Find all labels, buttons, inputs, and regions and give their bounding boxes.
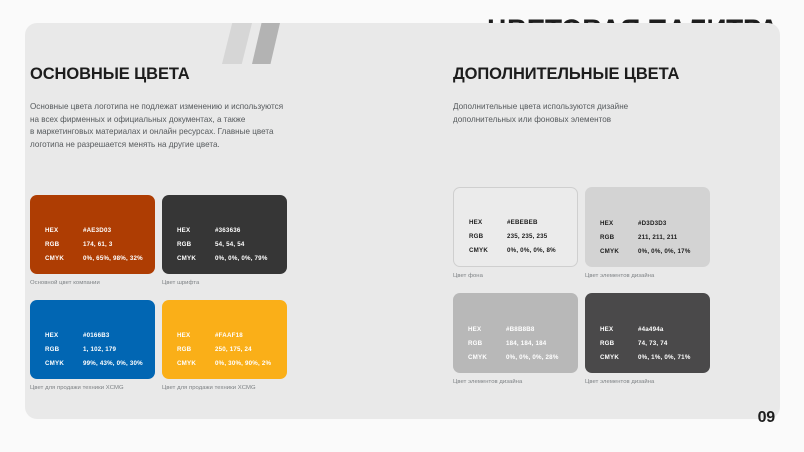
section-primary-colors: ОСНОВНЫЕ ЦВЕТА Основные цвета логотипа н… — [30, 0, 320, 151]
color-value-key: HEX — [45, 332, 83, 339]
color-value-hex: #363636 — [215, 227, 241, 234]
color-swatch-box[interactable]: HEX#D3D3D3RGB211, 211, 211CMYK0%, 0%, 0%… — [585, 187, 710, 267]
description-line: на всех фирменных и официальных документ… — [30, 114, 320, 127]
color-swatch-box[interactable]: HEX#FAAF18RGB250, 175, 24CMYK0%, 30%, 90… — [162, 300, 287, 379]
color-swatch-cell: HEX#AE3D03RGB174, 61, 3CMYK0%, 65%, 98%,… — [30, 195, 155, 286]
color-value-row-cmyk: CMYK99%, 43%, 0%, 30% — [45, 360, 145, 367]
color-value-key: CMYK — [177, 360, 215, 367]
color-value-row-hex: HEX#0166B3 — [45, 332, 145, 339]
color-value-hex: #0166B3 — [83, 332, 110, 339]
color-swatch-box[interactable]: HEX#B8B8B8RGB184, 184, 184CMYK0%, 0%, 0%… — [453, 293, 578, 373]
color-value-rgb: 211, 211, 211 — [638, 234, 677, 241]
color-value-cmyk: 99%, 43%, 0%, 30% — [83, 360, 143, 367]
color-value-key: CMYK — [600, 248, 638, 255]
color-value-row-cmyk: CMYK0%, 30%, 90%, 2% — [177, 360, 277, 367]
color-value-rgb: 1, 102, 179 — [83, 346, 116, 353]
swatch-grid-secondary: HEX#EBEBEBRGB235, 235, 235CMYK0%, 0%, 0%… — [453, 187, 710, 385]
color-value-row-hex: HEX#363636 — [177, 227, 277, 234]
color-value-key: CMYK — [45, 360, 83, 367]
color-value-hex: #D3D3D3 — [638, 220, 667, 227]
color-value-hex: #EBEBEB — [507, 219, 538, 226]
description-line: дополнительных или фоновых элементов — [453, 114, 743, 127]
color-swatch-caption: Цвет элементов дизайна — [585, 273, 710, 279]
color-value-key: CMYK — [468, 354, 506, 361]
color-value-row-hex: HEX#B8B8B8 — [468, 326, 568, 333]
color-swatch-cell: HEX#B8B8B8RGB184, 184, 184CMYK0%, 0%, 0%… — [453, 293, 578, 385]
color-values: HEX#D3D3D3RGB211, 211, 211CMYK0%, 0%, 0%… — [600, 220, 700, 255]
color-value-key: HEX — [600, 220, 638, 227]
color-value-key: CMYK — [45, 255, 83, 262]
color-value-row-cmyk: CMYK0%, 0%, 0%, 79% — [177, 255, 277, 262]
section-secondary-colors: ДОПОЛНИТЕЛЬНЫЕ ЦВЕТА Дополнительные цвет… — [453, 0, 743, 126]
color-value-hex: #B8B8B8 — [506, 326, 535, 333]
color-swatch-caption: Цвет для продажи техники XCMG — [162, 385, 287, 391]
color-swatch-cell: HEX#FAAF18RGB250, 175, 24CMYK0%, 30%, 90… — [162, 300, 287, 391]
color-value-row-hex: HEX#AE3D03 — [45, 227, 145, 234]
color-value-row-hex: HEX#D3D3D3 — [600, 220, 700, 227]
color-value-key: RGB — [45, 346, 83, 353]
color-value-key: HEX — [177, 227, 215, 234]
color-swatch-box[interactable]: HEX#363636RGB54, 54, 54CMYK0%, 0%, 0%, 7… — [162, 195, 287, 274]
swatch-grid-primary: HEX#AE3D03RGB174, 61, 3CMYK0%, 65%, 98%,… — [30, 195, 287, 391]
page-number: 09 — [758, 409, 775, 427]
color-value-row-rgb: RGB54, 54, 54 — [177, 241, 277, 248]
color-value-rgb: 235, 235, 235 — [507, 233, 547, 240]
color-value-hex: #FAAF18 — [215, 332, 243, 339]
description-line: логотипа не разрешается менять на другие… — [30, 139, 320, 152]
color-values: HEX#AE3D03RGB174, 61, 3CMYK0%, 65%, 98%,… — [45, 227, 145, 262]
color-swatch-caption: Цвет элементов дизайна — [585, 379, 710, 385]
color-value-key: RGB — [45, 241, 83, 248]
color-value-row-rgb: RGB174, 61, 3 — [45, 241, 145, 248]
color-swatch-box[interactable]: HEX#0166B3RGB1, 102, 179CMYK99%, 43%, 0%… — [30, 300, 155, 379]
color-swatch-caption: Цвет элементов дизайна — [453, 379, 578, 385]
color-value-rgb: 184, 184, 184 — [506, 340, 546, 347]
color-value-rgb: 54, 54, 54 — [215, 241, 245, 248]
color-swatch-box[interactable]: HEX#4a494aRGB74, 73, 74CMYK0%, 1%, 0%, 7… — [585, 293, 710, 373]
color-values: HEX#0166B3RGB1, 102, 179CMYK99%, 43%, 0%… — [45, 332, 145, 367]
color-swatch-caption: Основной цвет компании — [30, 280, 155, 286]
color-swatch-cell: HEX#4a494aRGB74, 73, 74CMYK0%, 1%, 0%, 7… — [585, 293, 710, 385]
color-swatch-cell: HEX#363636RGB54, 54, 54CMYK0%, 0%, 0%, 7… — [162, 195, 287, 286]
description-line: Дополнительные цвета используются дизайн… — [453, 101, 743, 114]
color-value-row-cmyk: CMYK0%, 0%, 0%, 17% — [600, 248, 700, 255]
color-swatch-caption: Цвет для продажи техники XCMG — [30, 385, 155, 391]
color-value-key: HEX — [468, 326, 506, 333]
color-swatch-cell: HEX#0166B3RGB1, 102, 179CMYK99%, 43%, 0%… — [30, 300, 155, 391]
color-values: HEX#4a494aRGB74, 73, 74CMYK0%, 1%, 0%, 7… — [600, 326, 700, 361]
color-value-row-rgb: RGB250, 175, 24 — [177, 346, 277, 353]
color-value-key: RGB — [177, 346, 215, 353]
color-value-cmyk: 0%, 0%, 0%, 28% — [506, 354, 559, 361]
color-value-hex: #4a494a — [638, 326, 664, 333]
color-value-row-rgb: RGB235, 235, 235 — [469, 233, 569, 240]
section-description-primary: Основные цвета логотипа не подлежат изме… — [30, 101, 320, 151]
color-value-row-rgb: RGB184, 184, 184 — [468, 340, 568, 347]
section-title-secondary: ДОПОЛНИТЕЛЬНЫЕ ЦВЕТА — [453, 0, 743, 84]
color-value-rgb: 74, 73, 74 — [638, 340, 668, 347]
color-value-row-rgb: RGB211, 211, 211 — [600, 234, 700, 241]
color-value-row-rgb: RGB74, 73, 74 — [600, 340, 700, 347]
color-value-key: RGB — [600, 340, 638, 347]
color-value-cmyk: 0%, 0%, 0%, 17% — [638, 248, 691, 255]
color-value-key: CMYK — [600, 354, 638, 361]
color-values: HEX#363636RGB54, 54, 54CMYK0%, 0%, 0%, 7… — [177, 227, 277, 262]
color-values: HEX#FAAF18RGB250, 175, 24CMYK0%, 30%, 90… — [177, 332, 277, 367]
color-value-row-cmyk: CMYK0%, 0%, 0%, 8% — [469, 247, 569, 254]
color-value-key: RGB — [177, 241, 215, 248]
color-value-key: HEX — [177, 332, 215, 339]
description-line: в маркетинговых материалах и онлайн ресу… — [30, 126, 320, 139]
color-value-key: HEX — [469, 219, 507, 226]
color-value-cmyk: 0%, 65%, 98%, 32% — [83, 255, 143, 262]
color-value-key: HEX — [600, 326, 638, 333]
color-value-hex: #AE3D03 — [83, 227, 111, 234]
color-value-row-cmyk: CMYK0%, 0%, 0%, 28% — [468, 354, 568, 361]
color-swatch-cell: HEX#D3D3D3RGB211, 211, 211CMYK0%, 0%, 0%… — [585, 187, 710, 279]
color-value-cmyk: 0%, 0%, 0%, 8% — [507, 247, 556, 254]
section-description-secondary: Дополнительные цвета используются дизайн… — [453, 101, 743, 126]
color-value-rgb: 250, 175, 24 — [215, 346, 252, 353]
color-values: HEX#B8B8B8RGB184, 184, 184CMYK0%, 0%, 0%… — [468, 326, 568, 361]
slide-canvas: ЦВЕТОВАЯ ПАЛИТРА ОСНОВНЫЕ ЦВЕТА Основные… — [0, 0, 804, 452]
color-value-key: CMYK — [469, 247, 507, 254]
color-value-key: RGB — [469, 233, 507, 240]
description-line: Основные цвета логотипа не подлежат изме… — [30, 101, 320, 114]
color-value-row-rgb: RGB1, 102, 179 — [45, 346, 145, 353]
section-title-primary: ОСНОВНЫЕ ЦВЕТА — [30, 0, 320, 84]
color-value-row-hex: HEX#EBEBEB — [469, 219, 569, 226]
color-value-cmyk: 0%, 30%, 90%, 2% — [215, 360, 271, 367]
color-value-cmyk: 0%, 1%, 0%, 71% — [638, 354, 691, 361]
color-value-row-hex: HEX#4a494a — [600, 326, 700, 333]
color-swatch-box[interactable]: HEX#AE3D03RGB174, 61, 3CMYK0%, 65%, 98%,… — [30, 195, 155, 274]
color-value-rgb: 174, 61, 3 — [83, 241, 113, 248]
color-value-key: HEX — [45, 227, 83, 234]
color-value-key: CMYK — [177, 255, 215, 262]
color-swatch-caption: Цвет шрифта — [162, 280, 287, 286]
color-swatch-box[interactable]: HEX#EBEBEBRGB235, 235, 235CMYK0%, 0%, 0%… — [453, 187, 578, 267]
color-value-row-cmyk: CMYK0%, 1%, 0%, 71% — [600, 354, 700, 361]
color-value-key: RGB — [600, 234, 638, 241]
color-value-cmyk: 0%, 0%, 0%, 79% — [215, 255, 268, 262]
color-swatch-caption: Цвет фона — [453, 273, 578, 279]
color-values: HEX#EBEBEBRGB235, 235, 235CMYK0%, 0%, 0%… — [469, 219, 569, 254]
color-value-row-hex: HEX#FAAF18 — [177, 332, 277, 339]
color-value-key: RGB — [468, 340, 506, 347]
color-swatch-cell: HEX#EBEBEBRGB235, 235, 235CMYK0%, 0%, 0%… — [453, 187, 578, 279]
color-value-row-cmyk: CMYK0%, 65%, 98%, 32% — [45, 255, 145, 262]
